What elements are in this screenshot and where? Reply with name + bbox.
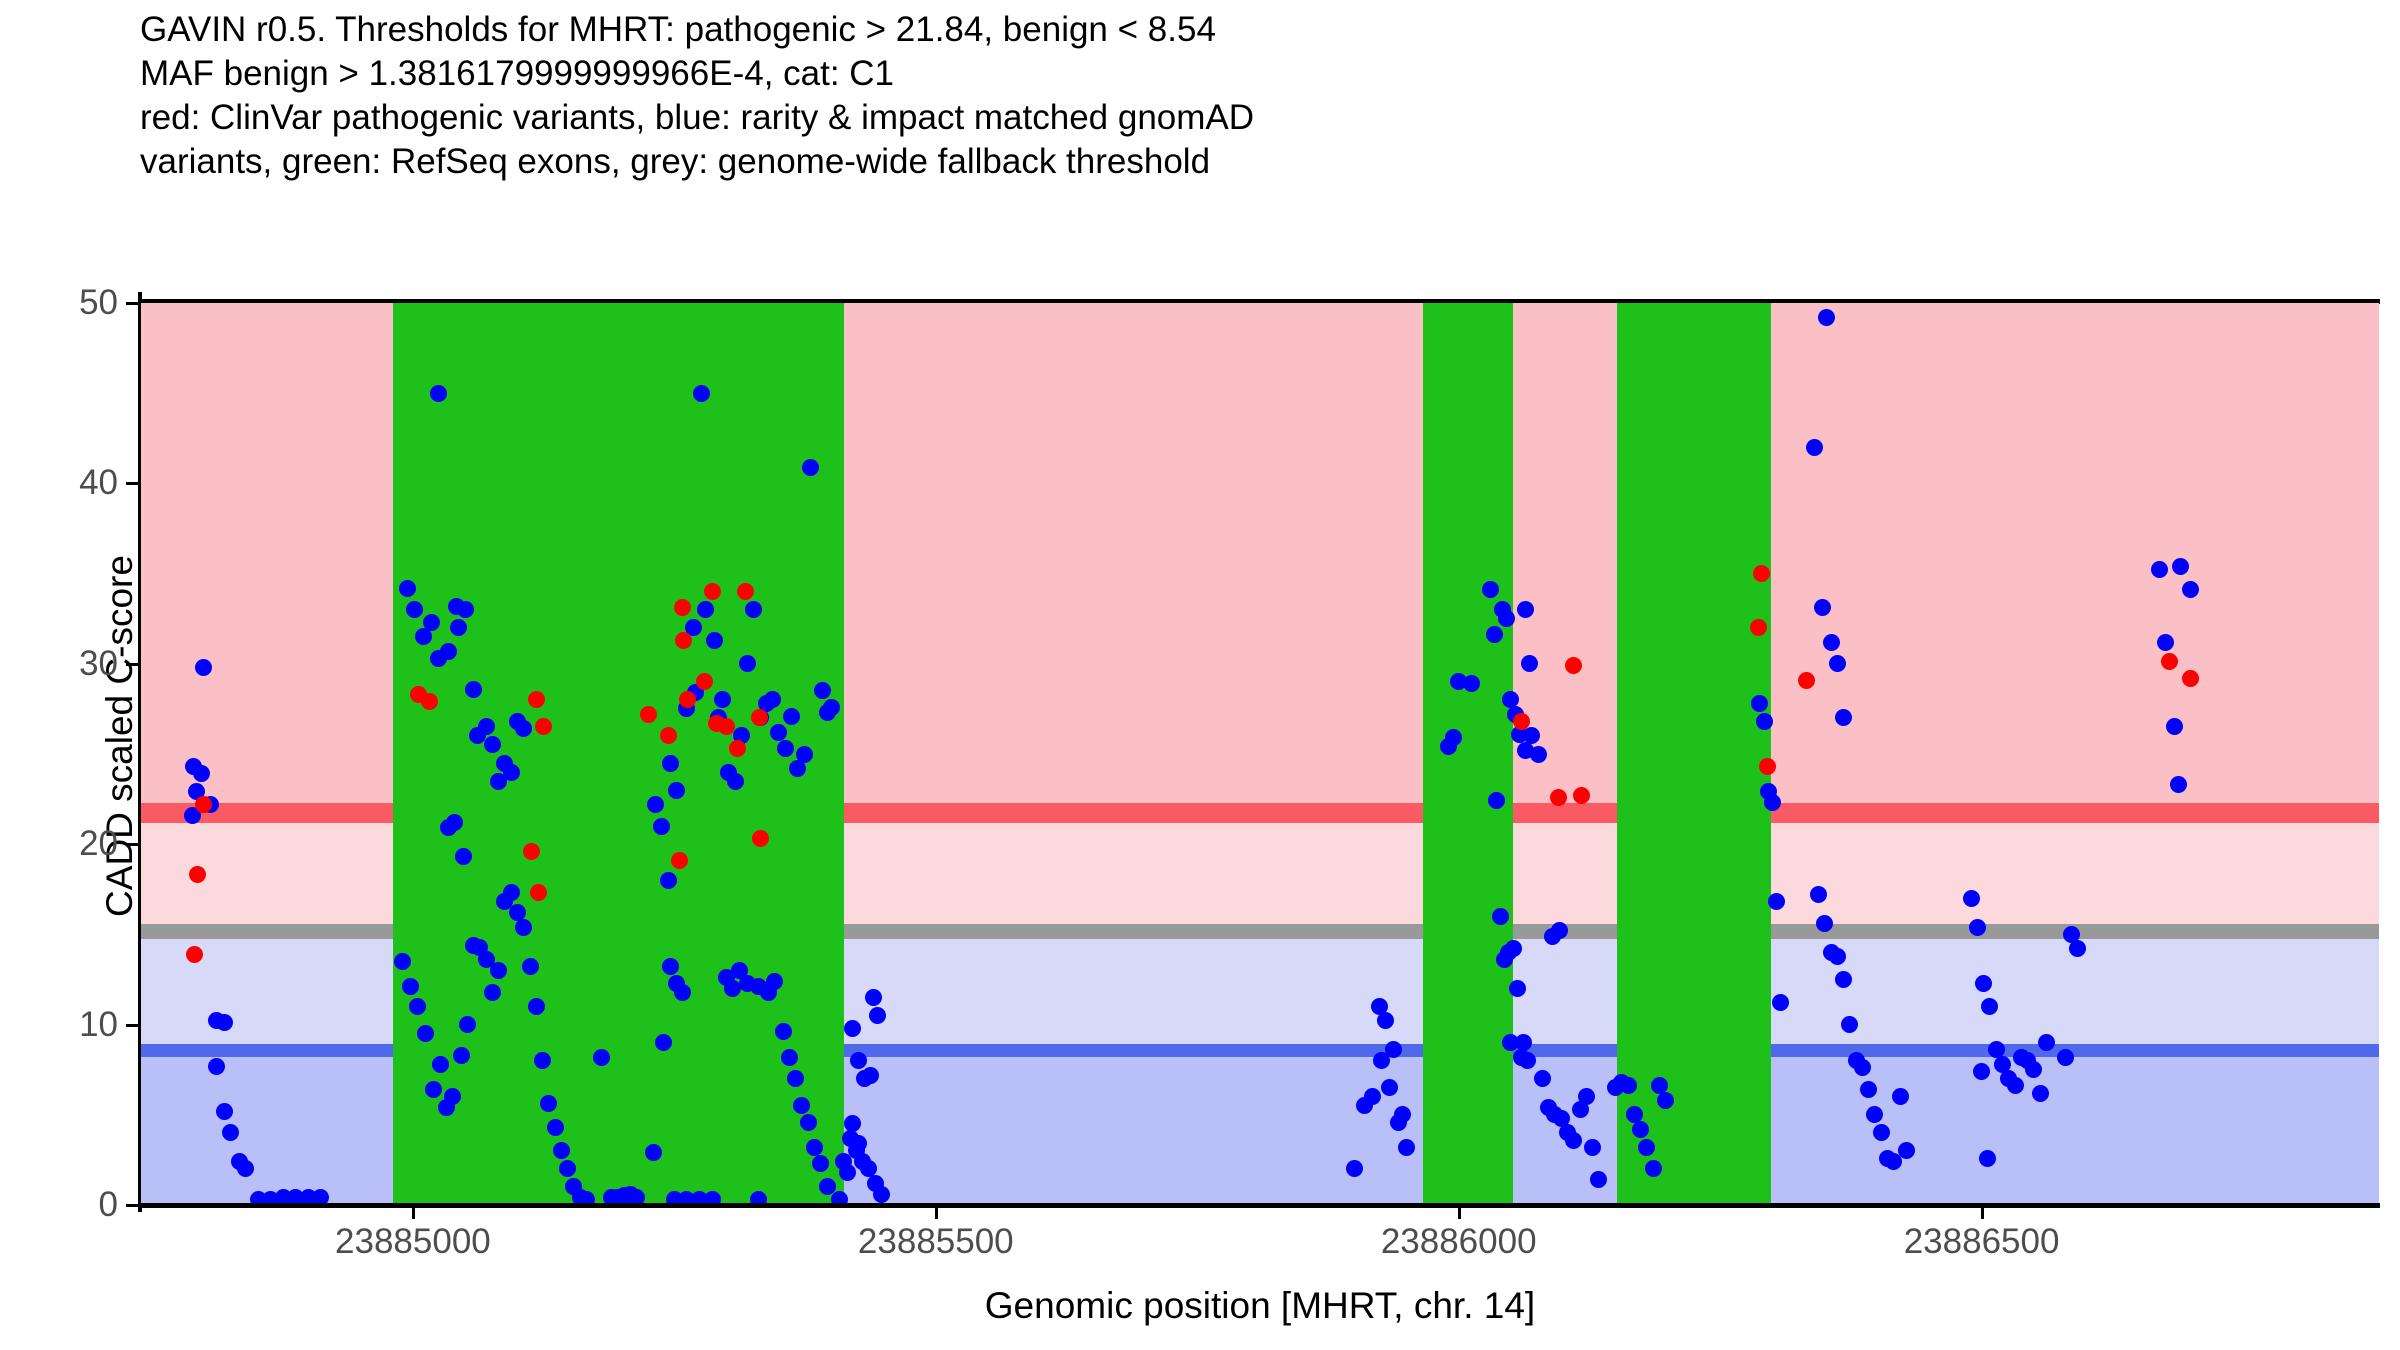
- data-point: [1509, 980, 1526, 997]
- x-tick-label: 23885500: [786, 1222, 1086, 1262]
- data-point: [693, 385, 710, 402]
- data-point: [1798, 672, 1815, 689]
- data-point: [660, 872, 677, 889]
- data-point: [1657, 1092, 1674, 1109]
- y-tick-mark: [126, 663, 139, 666]
- data-point: [806, 1139, 823, 1156]
- data-point: [528, 998, 545, 1015]
- data-point: [1645, 1160, 1662, 1177]
- x-tick-label: 23886000: [1309, 1222, 1609, 1262]
- data-point: [783, 708, 800, 725]
- data-point: [737, 583, 754, 600]
- data-point: [409, 998, 426, 1015]
- data-point: [515, 919, 532, 936]
- data-point: [1505, 940, 1522, 957]
- data-point: [1584, 1139, 1601, 1156]
- data-point: [1969, 919, 1986, 936]
- data-point: [453, 1047, 470, 1064]
- data-point: [775, 1023, 792, 1040]
- data-point: [423, 614, 440, 631]
- exon-3: [1423, 303, 1513, 1205]
- data-point: [1764, 794, 1781, 811]
- data-point: [704, 583, 721, 600]
- data-point: [873, 1186, 890, 1203]
- y-tick-label: 10: [0, 1005, 118, 1045]
- data-point: [1463, 675, 1480, 692]
- title-line-3: red: ClinVar pathogenic variants, blue: …: [140, 96, 2240, 140]
- data-point: [1394, 1106, 1411, 1123]
- x-tick-label: 23885000: [263, 1222, 563, 1262]
- data-point: [216, 1103, 233, 1120]
- data-point: [671, 852, 688, 869]
- data-point: [1530, 746, 1547, 763]
- data-point: [503, 764, 520, 781]
- data-point: [195, 659, 212, 676]
- data-point: [823, 699, 840, 716]
- y-tick-mark: [126, 302, 139, 305]
- data-point: [457, 601, 474, 618]
- data-point: [1551, 922, 1568, 939]
- data-point: [645, 1144, 662, 1161]
- data-point: [1492, 908, 1509, 925]
- data-point: [706, 632, 723, 649]
- data-point: [662, 958, 679, 975]
- data-point: [465, 681, 482, 698]
- y-tick-mark: [126, 482, 139, 485]
- data-point: [2038, 1034, 2055, 1051]
- data-point: [1756, 713, 1773, 730]
- data-point: [478, 718, 495, 735]
- data-point: [2157, 634, 2174, 651]
- data-point: [781, 1049, 798, 1066]
- data-point: [547, 1119, 564, 1136]
- data-point: [1620, 1077, 1637, 1094]
- x-axis-title: Genomic position [MHRT, chr. 14]: [141, 1285, 2379, 1327]
- data-point: [1963, 890, 1980, 907]
- data-point: [440, 643, 457, 660]
- data-point: [1482, 581, 1499, 598]
- y-tick-label: 0: [0, 1185, 118, 1225]
- data-point: [869, 1007, 886, 1024]
- data-point: [862, 1067, 879, 1084]
- y-tick-label: 20: [0, 824, 118, 864]
- x-tick-label: 23886500: [1832, 1222, 2132, 1262]
- data-point: [668, 782, 685, 799]
- data-point: [1975, 975, 1992, 992]
- chart-title-block: GAVIN r0.5. Thresholds for MHRT: pathoge…: [140, 8, 2240, 184]
- data-point: [1829, 655, 1846, 672]
- data-point: [1973, 1063, 1990, 1080]
- data-point: [1759, 758, 1776, 775]
- data-point: [399, 580, 416, 597]
- data-point: [766, 973, 783, 990]
- data-point: [2166, 718, 2183, 735]
- data-point: [1892, 1088, 1909, 1105]
- data-point: [674, 984, 691, 1001]
- data-point: [208, 1058, 225, 1075]
- data-point: [1829, 948, 1846, 965]
- data-point: [1578, 1088, 1595, 1105]
- data-point: [729, 740, 746, 757]
- data-point: [484, 984, 501, 1001]
- data-point: [490, 962, 507, 979]
- data-point: [593, 1049, 610, 1066]
- data-point: [802, 459, 819, 476]
- data-point: [2170, 776, 2187, 793]
- data-point: [1398, 1139, 1415, 1156]
- data-point: [1979, 1150, 1996, 1167]
- data-point: [777, 740, 794, 757]
- data-point: [1823, 634, 1840, 651]
- data-point: [844, 1020, 861, 1037]
- data-point: [850, 1135, 867, 1152]
- data-point: [2007, 1077, 2024, 1094]
- data-point: [394, 953, 411, 970]
- data-point: [417, 1025, 434, 1042]
- data-point: [2172, 558, 2189, 575]
- data-point: [522, 958, 539, 975]
- y-tick-mark: [126, 843, 139, 846]
- data-point: [455, 848, 472, 865]
- data-point: [751, 709, 768, 726]
- title-line-1: GAVIN r0.5. Thresholds for MHRT: pathoge…: [140, 8, 2240, 52]
- data-point: [430, 385, 447, 402]
- data-point: [662, 755, 679, 772]
- data-point: [459, 1016, 476, 1033]
- data-point: [1550, 789, 1567, 806]
- data-point: [752, 830, 769, 847]
- data-point: [2032, 1085, 2049, 1102]
- data-point: [653, 818, 670, 835]
- data-point: [1806, 439, 1823, 456]
- exon-4: [1617, 303, 1772, 1205]
- y-tick-mark: [126, 1204, 139, 1207]
- y-axis-title: CADD scaled C-score: [99, 286, 141, 1186]
- data-point: [1513, 713, 1530, 730]
- data-point: [2057, 1049, 2074, 1066]
- data-point: [523, 843, 540, 860]
- title-line-2: MAF benign > 1.3816179999999966E-4, cat:…: [140, 52, 2240, 96]
- y-tick-label: 30: [0, 644, 118, 684]
- data-point: [850, 1052, 867, 1069]
- data-point: [675, 632, 692, 649]
- data-point: [796, 746, 813, 763]
- data-point: [844, 1115, 861, 1132]
- y-tick-mark: [126, 1024, 139, 1027]
- chart-figure: GAVIN r0.5. Thresholds for MHRT: pathoge…: [0, 0, 2400, 1350]
- data-point: [1346, 1160, 1363, 1177]
- data-point: [640, 706, 657, 723]
- data-point: [865, 989, 882, 1006]
- plot-panel: [141, 303, 2379, 1205]
- data-point: [800, 1114, 817, 1131]
- y-tick-label: 50: [0, 283, 118, 323]
- data-point: [503, 884, 520, 901]
- data-point: [647, 796, 664, 813]
- data-point: [1873, 1124, 1890, 1141]
- title-line-4: variants, green: RefSeq exons, grey: gen…: [140, 140, 2240, 184]
- data-point: [432, 1056, 449, 1073]
- y-tick-label: 40: [0, 463, 118, 503]
- data-point: [660, 727, 677, 744]
- data-point: [727, 773, 744, 790]
- data-point: [1565, 1132, 1582, 1149]
- data-point: [1534, 1070, 1551, 1087]
- data-point: [186, 946, 203, 963]
- data-point: [1632, 1121, 1649, 1138]
- panel-bottom-border: [141, 1203, 2380, 1208]
- data-point: [1835, 971, 1852, 988]
- data-point: [2182, 670, 2199, 687]
- data-point: [1573, 787, 1590, 804]
